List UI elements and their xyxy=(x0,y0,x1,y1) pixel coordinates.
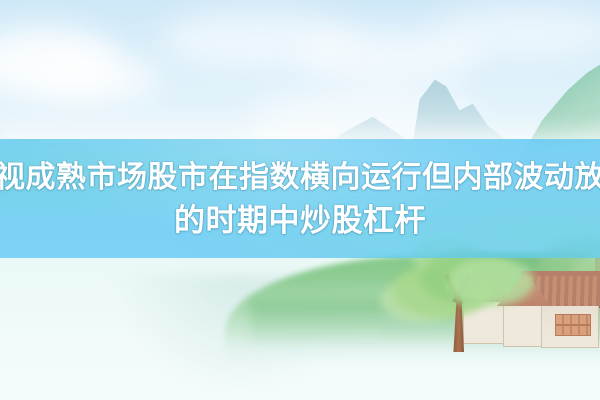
house-roof-ridge xyxy=(521,271,600,276)
title-line-2: 的时期中炒股杠杆 xyxy=(174,199,426,242)
tree-foliage xyxy=(448,258,534,306)
title-line-1: 透视成熟市场股市在指数横向运行但内部波动放大 xyxy=(0,156,600,199)
house-window-mullion xyxy=(555,324,591,326)
banner-image: 透视成熟市场股市在指数横向运行但内部波动放大 的时期中炒股杠杆 xyxy=(0,0,600,400)
banner-title: 透视成熟市场股市在指数横向运行但内部波动放大 的时期中炒股杠杆 xyxy=(0,139,600,258)
